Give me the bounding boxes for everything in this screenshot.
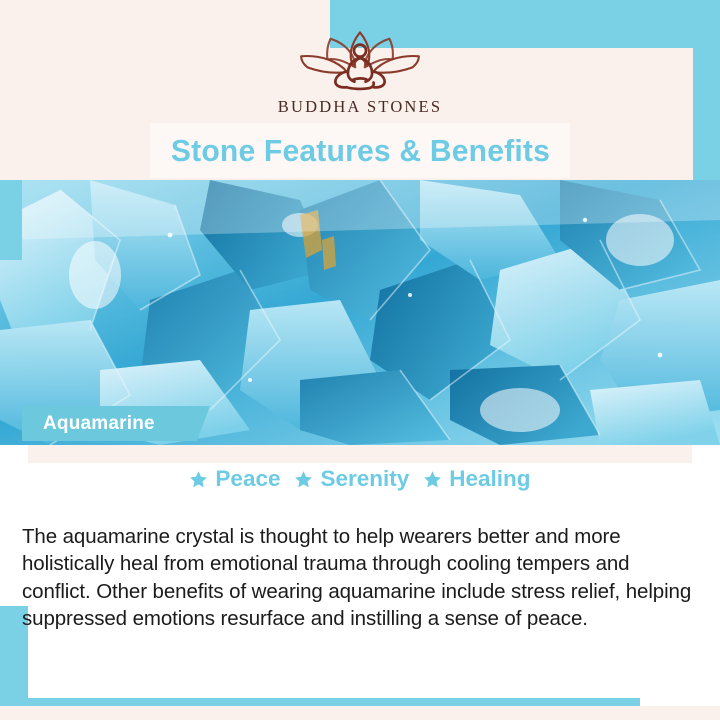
benefit-label: Serenity xyxy=(320,466,409,492)
benefit-label: Healing xyxy=(449,466,530,492)
description-paragraph: The aquamarine crystal is thought to hel… xyxy=(22,523,694,633)
hero-left-blue-strip xyxy=(0,180,22,260)
benefits-row: Peace Serenity Healing xyxy=(0,462,720,496)
bottom-cream-strip xyxy=(0,706,720,720)
under-photo-cream-strip xyxy=(28,445,692,463)
brand-wordmark: BUDDHA STONES xyxy=(278,97,442,117)
stone-name-banner: Aquamarine xyxy=(22,406,210,441)
crystal-photo-art xyxy=(0,180,720,445)
lotus-meditation-icon xyxy=(272,26,448,96)
benefit-item: Serenity xyxy=(294,466,409,492)
benefit-item: Healing xyxy=(423,466,530,492)
benefit-label: Peace xyxy=(215,466,280,492)
title-banner: Stone Features & Benefits xyxy=(150,123,570,178)
infographic-card: BUDDHA STONES Stone Features & Benefits xyxy=(0,0,720,720)
page-title: Stone Features & Benefits xyxy=(170,133,549,169)
star-icon xyxy=(294,470,313,489)
star-icon xyxy=(189,470,208,489)
benefit-item: Peace xyxy=(189,466,280,492)
stone-name-label: Aquamarine xyxy=(43,413,155,435)
brand-logo: BUDDHA STONES xyxy=(0,26,720,126)
crystal-photo xyxy=(0,180,720,445)
star-icon xyxy=(423,470,442,489)
